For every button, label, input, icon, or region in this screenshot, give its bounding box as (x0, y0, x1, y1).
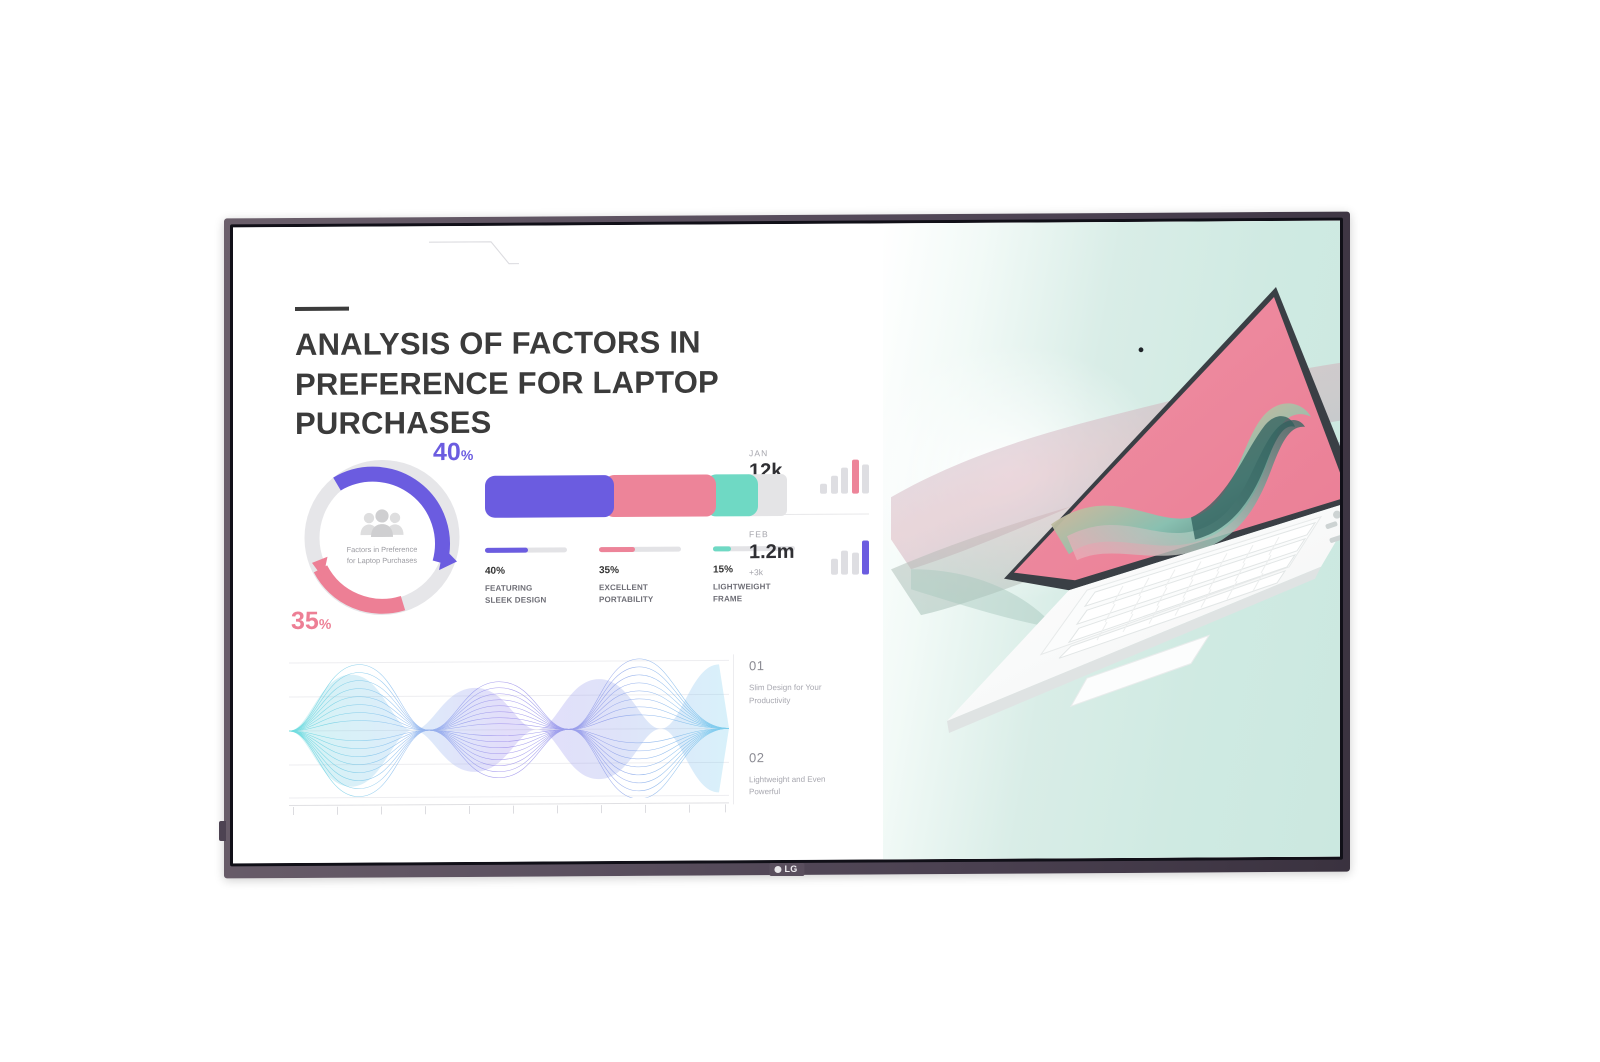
stat-row-feb: FEB 1.2m +3k (749, 528, 869, 577)
stats-panel: JAN 12k +432 (749, 445, 869, 593)
legend-pct-portability: 35% (599, 565, 685, 577)
stacked-bar-chart (485, 474, 807, 518)
lg-circle-logo-icon (774, 866, 781, 873)
stat-block-feb: FEB 1.2m +3k (749, 526, 869, 593)
numbered-list-divider (733, 654, 734, 804)
numbered-item-02-line2: Powerful (749, 786, 879, 800)
wave-chart-axis-ticks (289, 804, 729, 816)
donut-value-secondary-number: 35 (291, 607, 319, 635)
stat-month-jan: JAN (749, 448, 782, 458)
sparkline-jan (820, 457, 869, 495)
lg-gram-laptop-illustration (891, 266, 1340, 739)
presentation-slide: ANALYSIS OF FACTORS IN PREFERENCE FOR LA… (233, 221, 1340, 864)
legend-label-sleek-design-line1: FEATURING (485, 582, 571, 594)
tv-side-port (219, 821, 226, 841)
spark-bar (852, 553, 859, 575)
legend-label-portability-line2: PORTABILITY (599, 593, 685, 605)
sparkline-feb (831, 538, 870, 576)
legend-meter-fill (599, 547, 635, 552)
legend-meter-sleek-design (485, 547, 567, 553)
spark-bar (831, 559, 838, 575)
lg-brand-logo: LG (769, 863, 804, 876)
donut-caption-line1: Factors in Preference (324, 545, 440, 556)
spark-bar (862, 464, 869, 493)
legend-label-sleek-design-line2: SLEEK DESIGN (485, 594, 571, 606)
numbered-item-01-index: 01 (749, 657, 879, 673)
numbered-item-02: 02 Lightweight and Even Powerful (749, 749, 879, 799)
donut-value-primary-number: 40 (433, 438, 461, 466)
stat-month-feb: FEB (749, 529, 795, 539)
legend-item-portability: 35% EXCELLENT PORTABILITY (599, 547, 685, 606)
donut-value-primary: 40% (433, 438, 473, 467)
stacked-bar-segment-sleek-design (485, 475, 614, 518)
spark-bar-highlight (862, 540, 869, 574)
donut-chart: Factors in Preference for Laptop Purchas… (293, 448, 471, 627)
slide-left-panel: ANALYSIS OF FACTORS IN PREFERENCE FOR LA… (233, 223, 883, 863)
donut-caption-line2: for Laptop Purchases (324, 555, 440, 566)
legend-label-portability-line1: EXCELLENT (599, 582, 685, 594)
wave-chart-svg (289, 652, 729, 800)
legend-item-sleek-design: 40% FEATURING SLEEK DESIGN (485, 547, 571, 606)
callout-leader-line (429, 236, 519, 293)
donut-value-secondary: 35% (291, 607, 331, 636)
stat-value-feb: 1.2m (749, 542, 795, 563)
numbered-item-02-index: 02 (749, 749, 879, 765)
spark-bar (820, 484, 827, 494)
title-accent-rule (295, 307, 349, 311)
spark-bar (841, 468, 848, 494)
legend-meter-portability (599, 547, 681, 553)
numbered-item-01-line2: Productivity (749, 694, 879, 708)
stacked-bar-track (485, 474, 807, 518)
webcam-icon (1139, 347, 1144, 352)
tv-screen: ANALYSIS OF FACTORS IN PREFERENCE FOR LA… (233, 221, 1340, 864)
wave-line-chart (289, 652, 729, 800)
numbered-item-02-line1: Lightweight and Even (749, 773, 879, 787)
spark-bar (831, 476, 838, 494)
page-title: ANALYSIS OF FACTORS IN PREFERENCE FOR LA… (295, 322, 855, 444)
donut-center-label: Factors in Preference for Laptop Purchas… (324, 509, 440, 567)
stat-text-feb: FEB 1.2m +3k (749, 529, 795, 577)
numbered-item-01-line1: Slim Design for Your (749, 681, 879, 695)
legend-meter-fill (713, 546, 731, 551)
donut-value-primary-unit: % (461, 447, 473, 463)
legend-label-lightweight-line2: FRAME (713, 593, 799, 605)
donut-value-secondary-unit: % (319, 616, 331, 632)
tv-display-device: LG ANALYSIS OF FACTORS IN PREFERENCE FOR… (224, 215, 1350, 875)
legend-meter-fill (485, 548, 528, 553)
legend-pct-sleek-design: 40% (485, 565, 571, 577)
stacked-bar-segment-portability (604, 474, 717, 517)
people-group-icon (358, 509, 406, 539)
slide-right-panel (883, 221, 1340, 860)
laptop-artwork (883, 221, 1340, 860)
spark-bar (841, 551, 848, 575)
spark-bar-highlight (852, 460, 859, 494)
numbered-item-01: 01 Slim Design for Your Productivity (749, 657, 879, 707)
numbered-list: 01 Slim Design for Your Productivity 02 … (749, 657, 879, 841)
stat-delta-feb: +3k (749, 567, 795, 577)
lg-logo-text: LG (784, 864, 797, 874)
